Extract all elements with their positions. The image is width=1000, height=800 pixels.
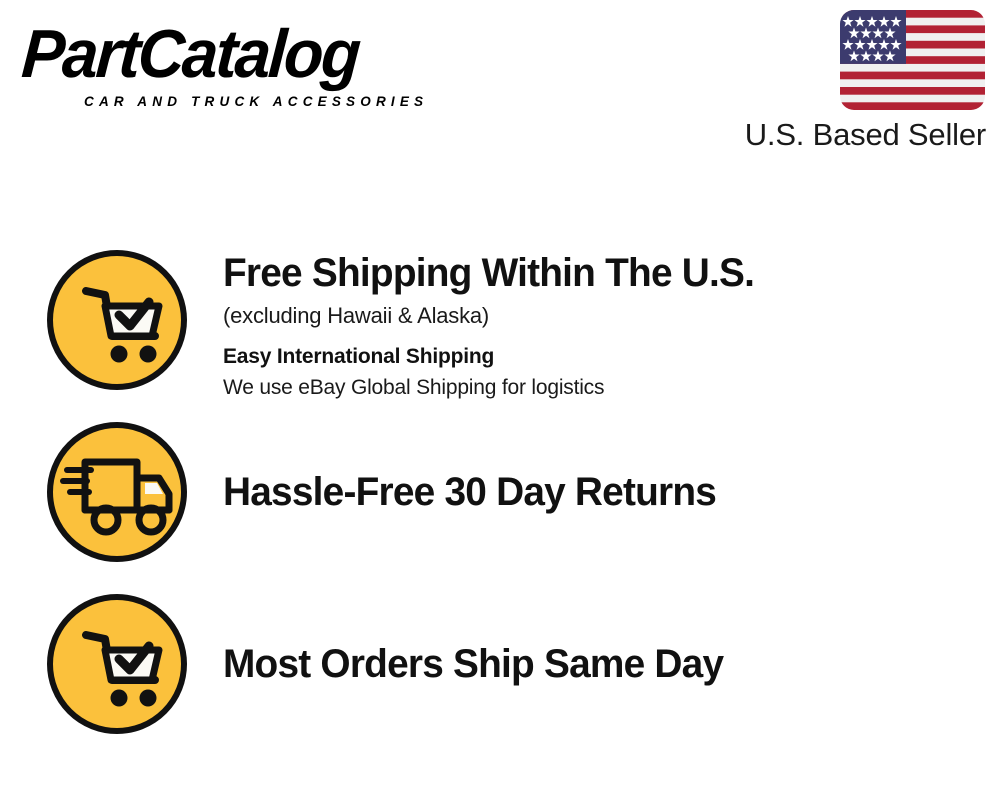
benefit-text-block: Most Orders Ship Same Day — [223, 592, 1000, 736]
promo-banner: PartCatalog CAR AND TRUCK ACCESSORIES — [0, 0, 1000, 800]
delivery-truck-icon — [45, 420, 189, 564]
banner-header: PartCatalog CAR AND TRUCK ACCESSORIES — [0, 0, 1000, 170]
benefit-secondary-heading: Easy International Shipping — [223, 343, 1000, 371]
benefit-text-block: Hassle-Free 30 Day Returns — [223, 420, 1000, 564]
benefit-heading: Most Orders Ship Same Day — [223, 641, 723, 687]
benefit-row: Hassle-Free 30 Day Returns — [0, 420, 1000, 580]
us-based-seller-label: U.S. Based Seller — [745, 117, 986, 153]
benefit-subnote: (excluding Hawaii & Alaska) — [223, 301, 1000, 331]
cart-check-icon — [45, 248, 189, 392]
brand-wordmark: PartCatalog — [20, 18, 481, 90]
benefit-text-block: Free Shipping Within The U.S. (excluding… — [223, 248, 1000, 402]
benefit-row: Most Orders Ship Same Day — [0, 592, 1000, 752]
us-flag-icon — [840, 10, 985, 110]
benefit-secondary-text: We use eBay Global Shipping for logistic… — [223, 374, 1000, 402]
benefit-row: Free Shipping Within The U.S. (excluding… — [0, 248, 1000, 408]
brand-logo: PartCatalog CAR AND TRUCK ACCESSORIES — [22, 18, 502, 118]
brand-tagline: CAR AND TRUCK ACCESSORIES — [84, 94, 428, 110]
benefit-heading: Hassle-Free 30 Day Returns — [223, 469, 716, 515]
benefit-heading: Free Shipping Within The U.S. — [223, 250, 977, 296]
cart-check-icon — [45, 592, 189, 736]
